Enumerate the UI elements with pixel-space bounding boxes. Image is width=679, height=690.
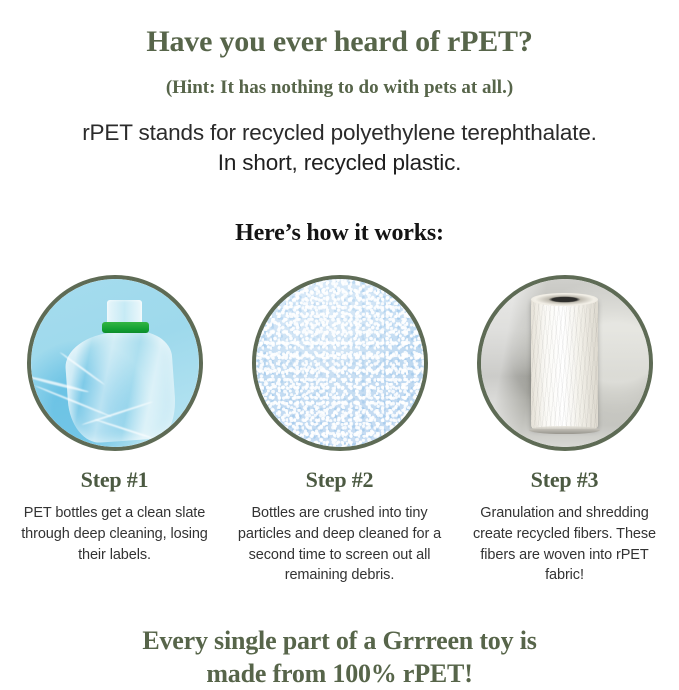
step-3-description: Granulation and shredding create recycle… [458,503,671,585]
definition-line-1: rPET stands for recycled polyethylene te… [82,120,597,145]
step-2-title: Step #2 [233,467,446,493]
step-1-description: PET bottles get a clean slate through de… [8,503,221,565]
steps-row: Step #1 PET bottles get a clean slate th… [0,275,679,585]
bottle-crease [34,385,112,418]
plastic-bottle-photo [31,279,199,447]
infographic-page: Have you ever heard of rPET? (Hint: It h… [0,20,679,669]
step-3-title: Step #3 [458,467,671,493]
step-card-1: Step #1 PET bottles get a clean slate th… [8,275,221,565]
bottle-body [63,328,177,444]
step-2-image-circle [252,275,428,451]
step-1-image-circle [27,275,203,451]
bottle-background [31,279,199,447]
step-card-2: Step #2 Bottles are crushed into tiny pa… [233,275,446,585]
flakes-texture [256,279,424,447]
spool-bottom-rim [529,426,600,434]
headline-hint: (Hint: It has nothing to do with pets at… [0,78,679,99]
spool-body [531,298,598,429]
footer-claim-line-2: made from 100% rPET! [0,657,679,690]
bottle-crease [81,401,153,426]
section-title: Here’s how it works: [0,220,679,247]
footer-claim: Every single part of a Grrreen toy is ma… [0,624,679,690]
bottle-crease [59,351,105,385]
step-card-3: Step #3 Granulation and shredding create… [458,275,671,585]
step-3-image-circle [477,275,653,451]
bottle-shape [86,300,173,441]
definition-line-2: In short, recycled plastic. [8,148,671,178]
page-title: Have you ever heard of rPET? [0,20,679,58]
step-1-title: Step #1 [8,467,221,493]
thread-spool-photo [481,279,649,447]
bottle-crease [31,374,90,393]
flakes-highlight [256,279,424,447]
footer-claim-line-1: Every single part of a Grrreen toy is [0,624,679,657]
crushed-plastic-flakes-photo [256,279,424,447]
bottle-neck [107,300,142,324]
bottle-crease [94,418,153,439]
bottle-cap-ring [102,322,149,333]
spool-background [481,279,649,447]
definition-paragraph: rPET stands for recycled polyethylene te… [0,118,679,178]
step-2-description: Bottles are crushed into tiny particles … [233,503,446,585]
